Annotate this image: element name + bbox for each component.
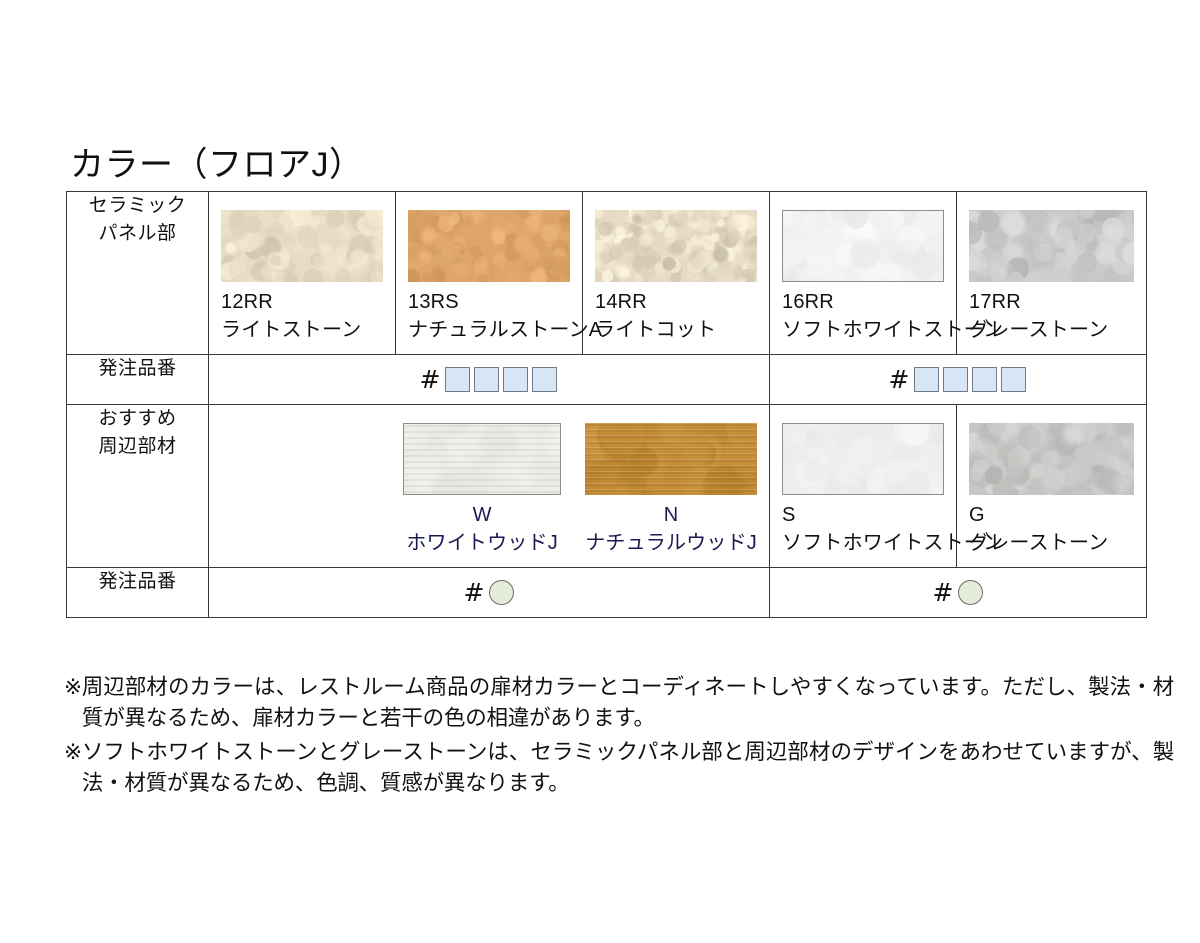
footnote-mark: ※ bbox=[64, 737, 82, 798]
swatch-label-17rr: 17RR グレーストーン bbox=[969, 289, 1134, 344]
page-title: カラー（フロアJ） bbox=[70, 137, 364, 186]
swatch-12rr bbox=[221, 210, 383, 282]
swatch-label-12rr: 12RR ライトストーン bbox=[221, 289, 383, 344]
color-name: ライトストーン bbox=[221, 317, 383, 345]
order-code-box[interactable] bbox=[503, 367, 528, 392]
recommended-cell-wood-group: W ホワイトウッドJ N ナチュラルウッドJ bbox=[209, 405, 770, 568]
catalog-page: カラー（フロアJ） セラミック パネル部 12RR bbox=[0, 0, 1200, 943]
color-code: 14RR bbox=[595, 289, 757, 317]
ceramic-cell-14rr: 14RR ライトコット bbox=[583, 192, 770, 355]
rowhead-order-number-bottom: 発注品番 bbox=[67, 568, 209, 618]
rowhead-line-1: おすすめ bbox=[67, 405, 208, 433]
color-name: ソフトホワイトストーン bbox=[782, 317, 944, 345]
swatch-16rr bbox=[782, 210, 944, 282]
rowhead-ceramic-panel: セラミック パネル部 bbox=[67, 192, 209, 355]
footnote-text: ソフトホワイトストーンとグレーストーンは、セラミックパネル部と周辺部材のデザイン… bbox=[82, 737, 1174, 798]
swatch-17rr bbox=[969, 210, 1134, 282]
swatch-label-16rr: 16RR ソフトホワイトストーン bbox=[782, 289, 944, 344]
order-code-circle[interactable] bbox=[489, 580, 514, 605]
recommended-cell-w: W ホワイトウッドJ bbox=[391, 405, 573, 567]
color-name: グレーストーン bbox=[969, 317, 1134, 345]
color-code: 13RS bbox=[408, 289, 570, 317]
order-code-box[interactable] bbox=[1001, 367, 1026, 392]
color-name: グレーストーン bbox=[969, 530, 1134, 558]
color-name: ライトコット bbox=[595, 317, 757, 345]
hash-symbol: # bbox=[420, 367, 441, 392]
color-name: ナチュラルストーンA bbox=[408, 317, 570, 345]
color-code: 12RR bbox=[221, 289, 383, 317]
table-row-order-number-top: 発注品番 # # bbox=[67, 355, 1147, 405]
order-code-box[interactable] bbox=[474, 367, 499, 392]
color-code: S bbox=[782, 502, 944, 530]
footnote-2: ※ ソフトホワイトストーンとグレーストーンは、セラミックパネル部と周辺部材のデザ… bbox=[64, 737, 1174, 798]
swatch-label-g: G グレーストーン bbox=[969, 502, 1134, 557]
footnote-1: ※ 周辺部材のカラーは、レストルーム商品の扉材カラーとコーディネートしやすくなっ… bbox=[64, 672, 1174, 733]
order-code-box[interactable] bbox=[914, 367, 939, 392]
recommended-cell-s: S ソフトホワイトストーン bbox=[770, 405, 957, 568]
swatch-label-14rr: 14RR ライトコット bbox=[595, 289, 757, 344]
rowhead-line-1: セラミック bbox=[67, 192, 208, 220]
swatch-label-13rs: 13RS ナチュラルストーンA bbox=[408, 289, 570, 344]
color-name: ナチュラルウッドJ bbox=[585, 530, 757, 558]
hash-symbol: # bbox=[933, 580, 954, 605]
swatch-13rs bbox=[408, 210, 570, 282]
swatch-label-n: N ナチュラルウッドJ bbox=[585, 502, 757, 557]
table-row-recommended-parts: おすすめ 周辺部材 W ホワイトウッドJ bbox=[67, 405, 1147, 568]
rowhead-recommended-parts: おすすめ 周辺部材 bbox=[67, 405, 209, 568]
swatch-14rr bbox=[595, 210, 757, 282]
color-name: ホワイトウッドJ bbox=[403, 530, 561, 558]
color-code: 16RR bbox=[782, 289, 944, 317]
rowhead-line-2: パネル部 bbox=[67, 220, 208, 248]
swatch-white-wood-j bbox=[403, 423, 561, 495]
footnotes: ※ 周辺部材のカラーは、レストルーム商品の扉材カラーとコーディネートしやすくなっ… bbox=[64, 672, 1174, 802]
footnote-mark: ※ bbox=[64, 672, 82, 733]
swatch-soft-white-stone bbox=[782, 423, 944, 495]
color-code: N bbox=[585, 502, 757, 530]
order-number-boxes-left[interactable]: # bbox=[209, 355, 770, 405]
hash-symbol: # bbox=[889, 367, 910, 392]
color-code: 17RR bbox=[969, 289, 1134, 317]
rowhead-line-2: 周辺部材 bbox=[67, 433, 208, 461]
rowhead-order-number-top: 発注品番 bbox=[67, 355, 209, 405]
ceramic-cell-17rr: 17RR グレーストーン bbox=[957, 192, 1147, 355]
order-number-circle-right[interactable]: # bbox=[770, 568, 1147, 618]
table-row-order-number-bottom: 発注品番 # # bbox=[67, 568, 1147, 618]
ceramic-cell-16rr: 16RR ソフトホワイトストーン bbox=[770, 192, 957, 355]
color-name: ソフトホワイトストーン bbox=[782, 530, 944, 558]
order-number-circle-left[interactable]: # bbox=[209, 568, 770, 618]
order-code-box[interactable] bbox=[532, 367, 557, 392]
order-code-box[interactable] bbox=[445, 367, 470, 392]
order-code-circle[interactable] bbox=[958, 580, 983, 605]
order-code-box[interactable] bbox=[972, 367, 997, 392]
order-number-boxes-right[interactable]: # bbox=[770, 355, 1147, 405]
swatch-label-s: S ソフトホワイトストーン bbox=[782, 502, 944, 557]
recommended-cell-g: G グレーストーン bbox=[957, 405, 1147, 568]
swatch-gray-stone bbox=[969, 423, 1134, 495]
ceramic-cell-12rr: 12RR ライトストーン bbox=[209, 192, 396, 355]
color-code: G bbox=[969, 502, 1134, 530]
footnote-text: 周辺部材のカラーは、レストルーム商品の扉材カラーとコーディネートしやすくなってい… bbox=[82, 672, 1174, 733]
ceramic-cell-13rs: 13RS ナチュラルストーンA bbox=[396, 192, 583, 355]
order-code-box[interactable] bbox=[943, 367, 968, 392]
recommended-cell-n: N ナチュラルウッドJ bbox=[573, 405, 769, 567]
color-table: セラミック パネル部 12RR ライトストーン bbox=[66, 191, 1147, 618]
swatch-natural-wood-j bbox=[585, 423, 757, 495]
table-row-ceramic-panel: セラミック パネル部 12RR ライトストーン bbox=[67, 192, 1147, 355]
hash-symbol: # bbox=[464, 580, 485, 605]
swatch-label-w: W ホワイトウッドJ bbox=[403, 502, 561, 557]
color-code: W bbox=[403, 502, 561, 530]
